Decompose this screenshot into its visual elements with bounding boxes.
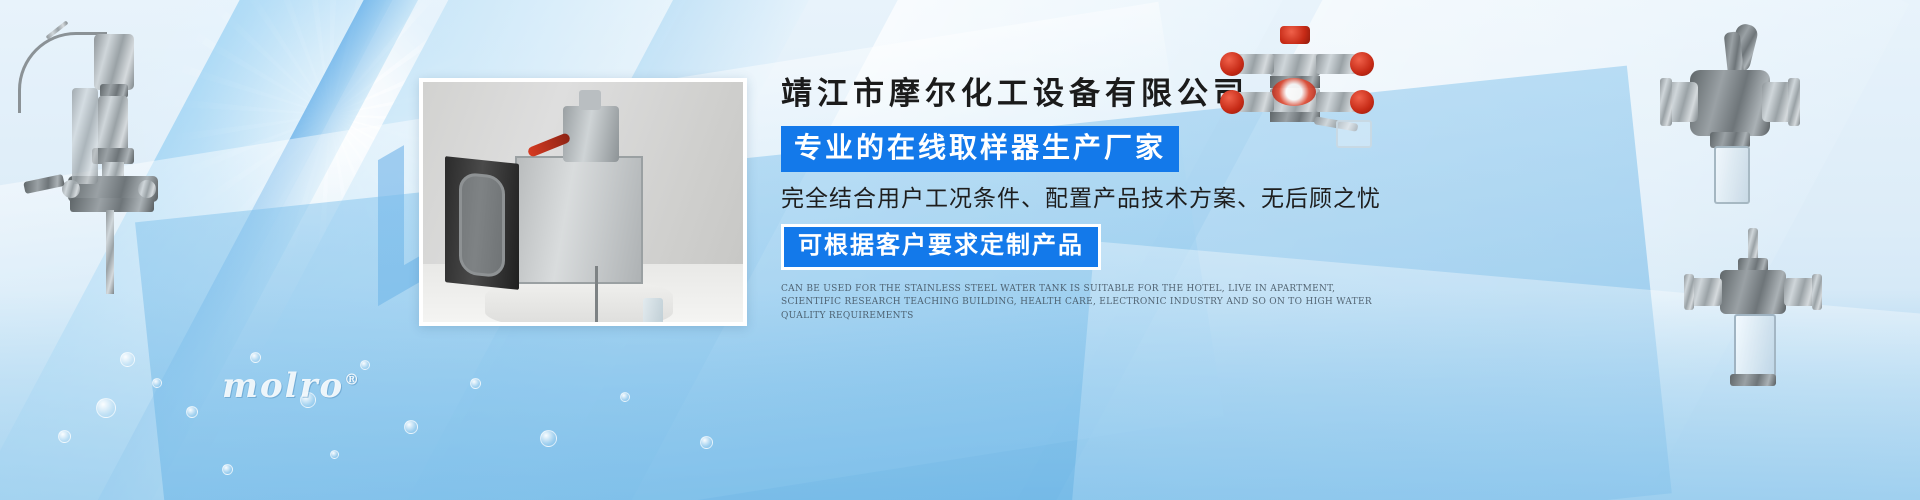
- slogan-primary: 专业的在线取样器生产厂家: [781, 126, 1179, 172]
- water-bubble-icon: [360, 360, 370, 370]
- valve-handwheel-icon: [1220, 52, 1244, 76]
- water-bubble-icon: [620, 392, 630, 402]
- company-seal-icon: [1272, 78, 1316, 106]
- promotional-banner: 靖江市摩尔化工设备有限公司 专业的在线取样器生产厂家 完全结合用户工况条件、配置…: [0, 0, 1920, 500]
- valve-handwheel-icon: [1280, 26, 1310, 44]
- water-bubble-icon: [330, 450, 339, 459]
- water-bubble-icon: [250, 352, 261, 363]
- slogan-secondary: 完全结合用户工况条件、配置产品技术方案、无后顾之忧: [781, 185, 1401, 213]
- christmas-tree-valve-manifold: [1218, 36, 1378, 146]
- watermark-logo: molro®: [222, 366, 361, 406]
- water-bubble-icon: [186, 406, 198, 418]
- slogan-badge: 可根据客户要求定制产品: [781, 224, 1101, 269]
- english-description: CAN BE USED FOR THE STAINLESS STEEL WATE…: [781, 283, 1381, 325]
- sampling-probe-assembly: [10, 28, 180, 318]
- lever-operated-valve: [1660, 24, 1810, 214]
- water-bubble-icon: [120, 352, 135, 367]
- water-bubble-icon: [222, 464, 233, 475]
- valve-handwheel-icon: [1350, 90, 1374, 114]
- online-sampler-cabinet-photo: [419, 78, 747, 326]
- water-bubble-icon: [540, 430, 557, 447]
- water-bubble-icon: [700, 436, 713, 449]
- valve-handwheel-icon: [1350, 52, 1374, 76]
- water-bubble-icon: [152, 378, 162, 388]
- registered-mark-icon: ®: [344, 371, 361, 389]
- water-bubble-icon: [470, 378, 481, 389]
- water-bubble-icon: [404, 420, 418, 434]
- sight-glass-sampler: [1690, 228, 1820, 398]
- valve-handwheel-icon: [1220, 90, 1244, 114]
- water-bubble-icon: [96, 398, 116, 418]
- water-bubble-icon: [58, 430, 71, 443]
- watermark-text: molro: [222, 366, 344, 406]
